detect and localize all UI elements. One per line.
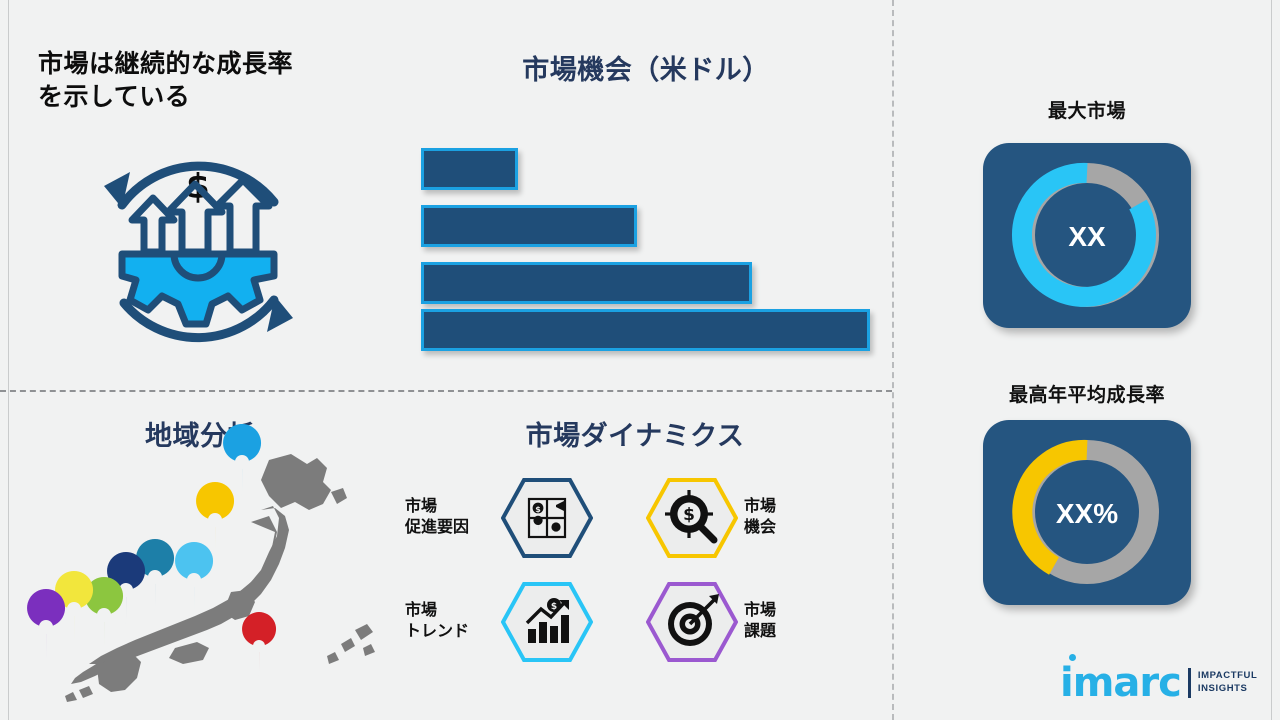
highest-cagr-label: 最高年平均成長率 <box>894 380 1280 407</box>
dynamics-item-opportunities[interactable]: $ 市場 機会 <box>646 470 875 566</box>
target-dart-icon <box>646 581 738 663</box>
logo-dot <box>1069 654 1076 661</box>
growth-panel-title: 市場は継続的な成長率 を示している <box>38 48 383 114</box>
dynamics-panel-title: 市場ダイナミクス <box>400 414 870 453</box>
kpi-panel: 最大市場 XX 最高年平均成長率 XX% <box>894 0 1280 720</box>
imarc-logo[interactable]: imarc IMPACTFUL INSIGHTS <box>1060 660 1260 706</box>
largest-market-label: 最大市場 <box>894 96 1280 123</box>
largest-market-value: XX <box>983 221 1191 253</box>
svg-text:$: $ <box>535 505 541 514</box>
bar-item <box>421 148 518 190</box>
puzzle-pieces-icon: $ <box>501 477 593 559</box>
highest-cagr-value: XX% <box>983 498 1191 530</box>
logo-tagline-line2: INSIGHTS <box>1198 683 1258 696</box>
slide-root: 市場は継続的な成長率 を示している $ 市場機会（米ドル） <box>0 0 1280 720</box>
dynamics-item-label: 市場 課題 <box>744 601 776 643</box>
svg-text:$: $ <box>683 505 695 525</box>
growth-cycle-gear-icon: $ <box>78 140 318 365</box>
region-panel: 地域分析 <box>0 392 400 720</box>
growth-panel: 市場は継続的な成長率 を示している $ <box>0 0 400 390</box>
growth-bar-chart-icon: $ <box>501 581 593 663</box>
largest-market-card[interactable]: XX <box>983 143 1191 328</box>
dynamics-item-challenges[interactable]: 市場 課題 <box>646 574 875 670</box>
logo-tagline-line1: IMPACTFUL <box>1198 670 1258 683</box>
dynamics-item-trends[interactable]: 市場 トレンド $ <box>405 574 634 670</box>
bar-chart <box>421 148 881 348</box>
logo-separator <box>1188 668 1191 698</box>
logo-wordmark: imarc <box>1060 663 1181 703</box>
bar-item <box>421 309 870 351</box>
highest-cagr-card[interactable]: XX% <box>983 420 1191 605</box>
dynamics-item-label: 市場 促進要因 <box>405 497 497 539</box>
bar-item <box>421 205 637 247</box>
opportunity-panel: 市場機会（米ドル） <box>400 0 892 390</box>
japan-map <box>55 452 385 702</box>
region-panel-title: 地域分析 <box>0 414 400 453</box>
svg-text:$: $ <box>551 602 557 612</box>
dynamics-item-drivers[interactable]: 市場 促進要因 <box>405 470 634 566</box>
bar-item <box>421 262 752 304</box>
opportunity-panel-title: 市場機会（米ドル） <box>400 48 892 87</box>
dynamics-item-label: 市場 トレンド <box>405 601 497 643</box>
dynamics-panel: 市場ダイナミクス 市場 促進要因 <box>400 392 892 720</box>
magnifier-dollar-icon: $ <box>646 477 738 559</box>
dynamics-item-label: 市場 機会 <box>744 497 776 539</box>
dynamics-grid: 市場 促進要因 <box>405 470 875 670</box>
